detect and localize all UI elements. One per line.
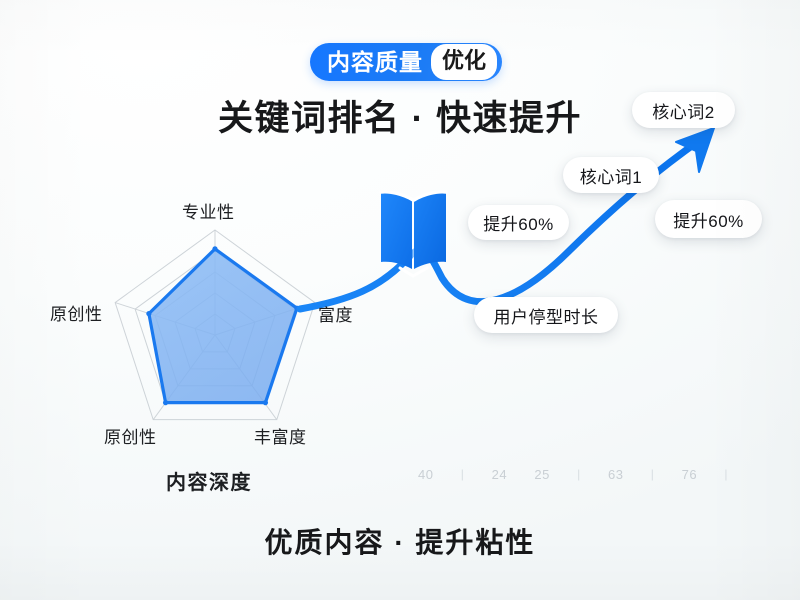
axis-tick: 40 (418, 467, 433, 482)
radar-axis-label-left: 原创性 (50, 300, 103, 325)
radar-axis-label-right: 富度 (318, 301, 353, 326)
axis-tick: 63 (608, 467, 623, 482)
axis-tick-mark: | (651, 467, 655, 481)
radar-axis-label-top: 专业性 (182, 198, 235, 223)
axis-tick-mark: | (577, 467, 581, 481)
axis-tick: 76 (682, 467, 697, 482)
badge-chip-label: 优化 (431, 44, 497, 80)
axis-tick-mark: | (724, 467, 728, 481)
status-badge: 内容质量 优化 (310, 43, 502, 81)
page-subtitle: 优质内容 · 提升粘性 (0, 521, 800, 561)
annotation-pill-increase-left: 提升60% (468, 205, 569, 240)
radar-axis-label-bottom-right: 丰富度 (254, 423, 307, 448)
annotation-pill-increase-right: 提升60% (655, 200, 762, 238)
poster-canvas: 内容质量 优化 关键词排名 · 快速提升 优质内容 · 提升粘性 核心词2 核心… (0, 0, 800, 600)
axis-tick: 25 (534, 467, 549, 482)
radar-axis-label-bottom-left: 原创性 (104, 423, 157, 448)
annotation-pill-dwell-time: 用户停型时长 (474, 297, 618, 333)
chart-caption: 内容深度 (166, 466, 252, 495)
axis-tick-strip: 40 | 24 25 | 63 | 76 | (418, 463, 728, 485)
axis-tick: 24 (492, 467, 507, 482)
annotation-pill-keyword-2: 核心词2 (632, 92, 735, 128)
badge-main-label: 内容质量 (327, 51, 431, 74)
axis-tick-mark: | (461, 467, 465, 481)
radar-series-polygon (149, 249, 297, 403)
annotation-pill-keyword-1: 核心词1 (563, 157, 659, 193)
